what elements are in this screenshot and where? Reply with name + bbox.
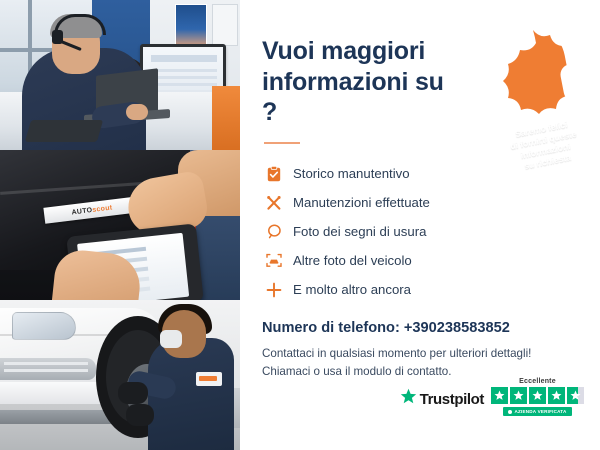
page-title: Vuoi maggiori informazioni su ?: [262, 36, 462, 128]
car-grille: [0, 358, 96, 380]
mechanic-wheel-photo: [0, 300, 240, 450]
call-center-photo: [0, 0, 240, 150]
operator-hand: [126, 104, 148, 120]
mechanic-face-mask: [160, 330, 182, 348]
check-icon: [508, 410, 512, 414]
monitor-toolbar: [151, 55, 217, 62]
mechanic-uniform-badge: [196, 372, 222, 386]
feature-item-wear-photos[interactable]: Foto dei segni di usura: [262, 218, 578, 246]
trustpilot-logo: Trustpilot: [400, 388, 484, 416]
star-filled: [529, 387, 546, 404]
badge-content: Saremo felici di fornirti queste informa…: [464, 18, 600, 156]
clipboard-check-icon: [262, 166, 286, 182]
headline-line-1: Vuoi maggiori: [262, 37, 425, 65]
verified-badge: AZIENDA VERIFICATA: [503, 407, 571, 416]
car-scan-icon: [262, 253, 286, 268]
star-filled: [548, 387, 565, 404]
photo-column: AUTOscout: [0, 0, 240, 450]
star-filled: [510, 387, 527, 404]
monitor-rows: [151, 69, 217, 72]
headset-icon: [459, 0, 597, 133]
rating-label: Eccellente: [519, 378, 556, 385]
orange-equipment: [212, 86, 240, 150]
title-divider: [264, 142, 300, 144]
grille-bars: [4, 362, 88, 365]
phone-label: Numero di telefono:: [262, 320, 400, 336]
verified-label: AZIENDA VERIFICATA: [514, 409, 566, 414]
feature-label: Foto dei segni di usura: [293, 224, 426, 239]
feature-item-vehicle-photos[interactable]: Altre foto del veicolo: [262, 247, 578, 275]
body-line-1: Contattaci in qualsiasi momento per ulte…: [262, 345, 578, 364]
inspection-strip-label: AUTOscout: [71, 204, 113, 216]
feature-label: Storico manutentivo: [293, 166, 410, 181]
trustpilot-widget[interactable]: Trustpilot Eccellente: [400, 378, 584, 416]
promo-card: AUTOscout: [0, 0, 600, 450]
headline-line-2: informazioni su ?: [262, 68, 444, 127]
speech-bubble-icon: [262, 224, 286, 239]
vehicle-inspection-photo: AUTOscout: [0, 150, 240, 300]
trustpilot-wordmark: Trustpilot: [420, 391, 484, 408]
feature-list: Storico manutentivo Manutenzioni effettu…: [262, 160, 578, 304]
feature-label: Altre foto del veicolo: [293, 253, 412, 268]
trustpilot-rating: Eccellente: [491, 378, 584, 416]
phone-number[interactable]: +390238583852: [404, 320, 510, 336]
star-filled: [491, 387, 508, 404]
feature-item-maintenance-done[interactable]: Manutenzioni effettuate: [262, 189, 578, 217]
tools-cross-icon: [262, 195, 286, 211]
callout-badge: Saremo felici di fornirti queste informa…: [474, 28, 592, 146]
content-panel: Vuoi maggiori informazioni su ? Saremo f…: [240, 0, 600, 450]
star-partial: [567, 387, 584, 404]
plus-icon: [262, 282, 286, 298]
phone-line: Numero di telefono: +390238583852: [262, 320, 578, 336]
feature-label: E molto altro ancora: [293, 282, 411, 297]
trustpilot-star-icon: [400, 388, 417, 410]
wall-poster-secondary: [212, 4, 238, 46]
feature-item-more[interactable]: E molto altro ancora: [262, 276, 578, 304]
desk-tablet: [25, 120, 103, 142]
car-headlight: [12, 312, 76, 340]
mechanic-glove-lower: [126, 404, 154, 426]
contact-body-copy: Contattaci in qualsiasi momento per ulte…: [262, 345, 578, 383]
feature-label: Manutenzioni effettuate: [293, 195, 430, 210]
star-rating: [491, 387, 584, 404]
mechanic-glove-upper: [118, 382, 148, 404]
